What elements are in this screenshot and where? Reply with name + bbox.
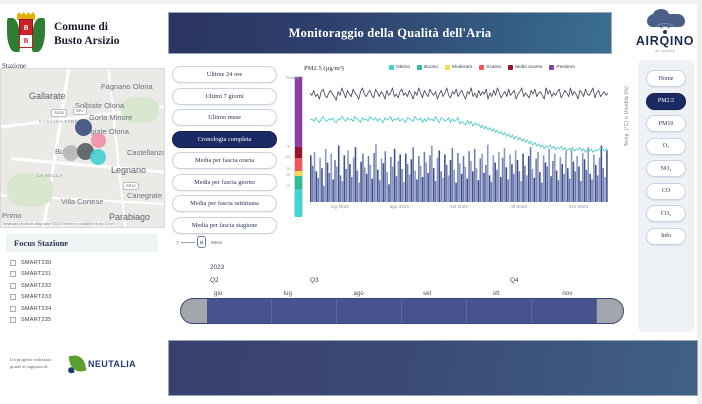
- period-button[interactable]: Media per fascia oraria: [172, 152, 277, 169]
- timeline-year-label: 2023: [210, 264, 224, 271]
- station-checkbox[interactable]: [10, 260, 16, 266]
- legend-label: Buono: [424, 65, 438, 70]
- map-road-badge: SS33: [51, 109, 67, 117]
- chart-plot-canvas: [310, 78, 608, 202]
- timeline-quarter-label: Q3: [310, 277, 319, 284]
- station-list-item[interactable]: SMART231: [10, 269, 160, 281]
- pollutant-nav-button[interactable]: O₃: [646, 138, 686, 155]
- period-button[interactable]: Media per fascia giorno: [172, 174, 277, 191]
- station-checkbox[interactable]: [10, 271, 16, 277]
- colorbar-tick: 25: [286, 167, 290, 171]
- legend-swatch: [508, 65, 513, 70]
- chart-title: PM2.5 (µg/m³): [304, 65, 344, 72]
- timeline-month-label: nov: [562, 290, 572, 297]
- timeline-quarter-label: Q2: [210, 277, 219, 284]
- municipality-title-line1: Comune di: [54, 20, 120, 34]
- pollutant-nav-button[interactable]: Home: [646, 70, 686, 87]
- leaf-icon: [69, 354, 87, 373]
- crest-letter-top: B: [19, 19, 33, 36]
- period-button-column[interactable]: Ultime 24 oreUltimi 7 giorniUltimo meseC…: [172, 66, 277, 238]
- station-checkbox[interactable]: [10, 306, 16, 312]
- airqino-tagline: air quality: [655, 49, 675, 53]
- granularity-knob[interactable]: M: [197, 236, 206, 248]
- timeline-handle-left[interactable]: [181, 299, 207, 323]
- timeline-month-label: set: [423, 290, 431, 297]
- timeline-quarter-label: Q4: [510, 277, 519, 284]
- map-place-label: Gallarate: [29, 91, 66, 101]
- pollutant-nav-button[interactable]: CO₂: [646, 205, 686, 222]
- pollutant-nav-button[interactable]: NO₂: [646, 160, 686, 177]
- station-list-item[interactable]: SMART233: [10, 292, 160, 304]
- pm25-chart: PM2.5 (µg/m³) OttimoBuonoModeratoScarsoM…: [284, 62, 628, 222]
- x-tick-label: ott 2023: [489, 204, 549, 209]
- station-list-item[interactable]: SMART235: [10, 315, 160, 327]
- airqino-logo: AIRQINO air quality: [632, 8, 698, 58]
- station-label: SMART230: [21, 260, 51, 266]
- legend-label: Ottimo: [396, 65, 410, 70]
- colorbar-segment: [295, 77, 302, 147]
- chart-legend: OttimoBuonoModeratoScarsoMolto scarsoPes…: [389, 65, 575, 70]
- timeline-granularity-slider[interactable]: Y M Mese: [176, 236, 222, 248]
- municipality-title: Comune di Busto Arsizio: [54, 20, 120, 49]
- legend-item: Ottimo: [389, 65, 410, 70]
- neutalia-logo: NEUTALIA: [70, 355, 136, 372]
- map-station-marker[interactable]: [75, 119, 92, 136]
- pollutant-nav-button[interactable]: PM10: [646, 115, 686, 132]
- legend-swatch: [389, 65, 394, 70]
- timeline-month-label: lug: [284, 290, 292, 297]
- legend-swatch: [445, 65, 450, 70]
- map-road-badge: SP12: [123, 182, 139, 190]
- legend-label: Molto scarso: [515, 65, 542, 70]
- map-attribution: Keyboard shortcuts Map data ©2023 Termin…: [2, 222, 115, 226]
- timeline-month-label: ago: [353, 290, 363, 297]
- period-button[interactable]: Media per fascia settimana: [172, 195, 277, 212]
- colorbar-segment: [295, 189, 302, 217]
- map-place-label: Fagnano Olona: [101, 82, 153, 91]
- neutalia-wordmark: NEUTALIA: [88, 359, 136, 369]
- legend-label: Scarso: [486, 65, 501, 70]
- pollutant-nav[interactable]: HomePM2.5PM10O₃NO₂COCO₂Info: [638, 60, 694, 332]
- station-list-item[interactable]: SMART230: [10, 257, 160, 269]
- map-place-label: LA MELLA: [37, 173, 63, 178]
- timeline-month-label: ott: [493, 290, 500, 297]
- legend-item: Pessimo: [549, 65, 574, 70]
- pollutant-nav-button[interactable]: PM2.5: [646, 93, 686, 110]
- chart-x-axis: lug 2023ago 2023set 2023ott 2023nov 2023: [310, 204, 608, 209]
- map-place-label: Legnano: [111, 165, 146, 175]
- map-place-label: Primo: [2, 211, 22, 220]
- colorbar-tick: 50: [286, 155, 290, 159]
- app-root: B B Comune di Busto Arsizio Monitoraggio…: [0, 0, 702, 404]
- timeline-axis-labels: 2023Q2Q3Q4giulugagosetottnov: [210, 264, 628, 300]
- map-place-label: Castellanza: [127, 148, 165, 157]
- page-title: Monitoraggio della Qualità dell'Aria: [289, 26, 492, 41]
- timeline-month-segment[interactable]: [532, 299, 597, 323]
- station-list-item[interactable]: SMART234: [10, 303, 160, 315]
- map-station-marker[interactable]: [91, 133, 106, 148]
- colorbar-segment: [295, 158, 302, 171]
- station-label: SMART234: [21, 306, 51, 312]
- airqino-cloud-wifi-icon: [641, 13, 689, 35]
- legend-item: Molto scarso: [508, 65, 542, 70]
- focus-stazione-header: Focus Stazione: [6, 234, 158, 252]
- map-place-label: Villa Cortese: [61, 197, 103, 206]
- station-checkbox[interactable]: [10, 294, 16, 300]
- map-road-badge: SP2: [73, 107, 87, 115]
- legend-item: Buono: [417, 65, 438, 70]
- legend-swatch: [549, 65, 554, 70]
- station-label: SMART231: [21, 271, 51, 277]
- municipality-title-line2: Busto Arsizio: [54, 34, 120, 48]
- municipality-brand: B B Comune di Busto Arsizio: [6, 10, 166, 58]
- legend-item: Scarso: [479, 65, 501, 70]
- timeline-month-segment[interactable]: [207, 299, 272, 323]
- map-place-label: Gorla Minore: [89, 113, 132, 122]
- station-checkbox[interactable]: [10, 317, 16, 323]
- station-label: SMART233: [21, 294, 51, 300]
- map-station-marker[interactable]: [90, 149, 106, 165]
- colorbar-tick: 20: [286, 173, 290, 177]
- timeline-month-segment[interactable]: [467, 299, 532, 323]
- timeline-month-label: giu: [214, 290, 222, 297]
- timeline-handle-right[interactable]: [597, 299, 623, 323]
- colorbar-tick: 75: [286, 145, 290, 149]
- legend-label: Moderato: [452, 65, 472, 70]
- legend-swatch: [417, 65, 422, 70]
- sponsor-caption: Un progetto realizzato grazie al support…: [10, 357, 62, 370]
- period-button[interactable]: Media per fascia stagione: [172, 217, 277, 234]
- air-quality-colorbar: Pessimo7550252010: [294, 76, 303, 216]
- map-place-label: Canegrate: [127, 191, 162, 200]
- station-list-item[interactable]: SMART232: [10, 280, 160, 292]
- timeline-month-segment[interactable]: [272, 299, 337, 323]
- granularity-track[interactable]: [181, 242, 195, 243]
- municipality-crest-icon: B B: [6, 12, 46, 56]
- colorbar-tick: 10: [286, 184, 290, 188]
- granularity-caption: Mese: [211, 240, 222, 245]
- legend-item: Moderato: [445, 65, 472, 70]
- x-tick-label: nov 2023: [548, 204, 608, 209]
- x-tick-label: set 2023: [429, 204, 489, 209]
- sponsor-block: Un progetto realizzato grazie al support…: [10, 355, 160, 372]
- timeline-control[interactable]: Y M Mese 2023Q2Q3Q4giulugagosetottnov: [176, 236, 628, 326]
- legend-label: Pessimo: [556, 65, 574, 70]
- station-label: SMART232: [21, 283, 51, 289]
- period-button[interactable]: Cronologia completa: [172, 131, 277, 148]
- x-tick-label: ago 2023: [370, 204, 430, 209]
- colorbar-top-label: Pessimo: [286, 76, 299, 80]
- period-button[interactable]: Ultimo mese: [172, 109, 277, 126]
- timeline-range-bar[interactable]: [180, 298, 624, 324]
- legend-swatch: [479, 65, 484, 70]
- period-button[interactable]: Ultimi 7 giorni: [172, 88, 277, 105]
- station-checkbox-list[interactable]: SMART230SMART231SMART232SMART233SMART234…: [10, 257, 160, 326]
- top-strip: [0, 0, 702, 4]
- footer-banner: [168, 340, 698, 396]
- x-tick-label: lug 2023: [310, 204, 370, 209]
- granularity-year-label: Y: [176, 240, 179, 245]
- pollutant-nav-button[interactable]: Info: [646, 228, 686, 245]
- station-checkbox[interactable]: [10, 283, 16, 289]
- map-place-label: Parabiago: [109, 212, 150, 222]
- timeline-month-segment[interactable]: [337, 299, 402, 323]
- page-title-banner: Monitoraggio della Qualità dell'Aria: [168, 12, 612, 54]
- timeline-month-segment[interactable]: [402, 299, 467, 323]
- colorbar-segment: [295, 147, 302, 158]
- period-button[interactable]: Ultime 24 ore: [172, 66, 277, 83]
- chart-right-axis-label: Temp. (°C) e Umidità (%): [624, 86, 630, 146]
- focus-stazione-title: Focus Stazione: [14, 238, 68, 248]
- colorbar-segment: [295, 176, 302, 189]
- pollutant-nav-button[interactable]: CO: [646, 183, 686, 200]
- crest-letter-bottom: B: [19, 35, 33, 48]
- station-label: SMART235: [21, 317, 51, 323]
- station-map[interactable]: Keyboard shortcuts Map data ©2023 Termin…: [0, 68, 165, 228]
